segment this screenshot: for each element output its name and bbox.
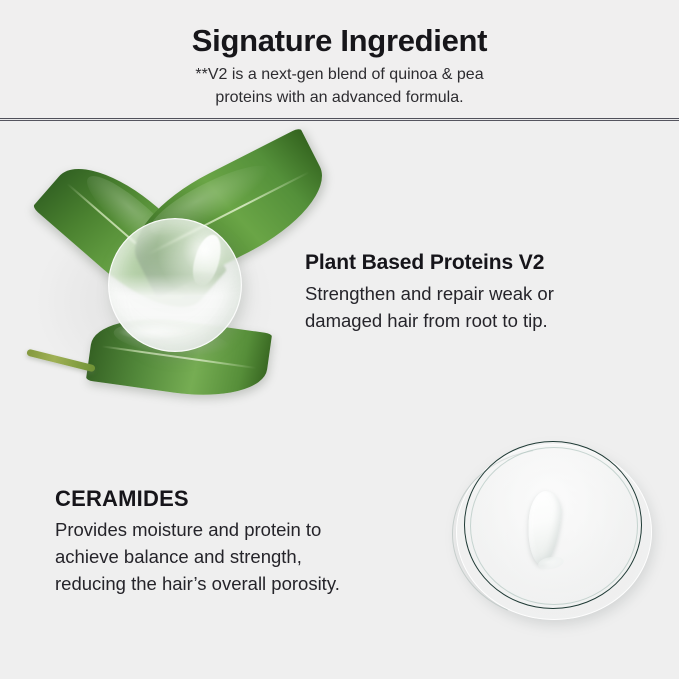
glass-petri-dish-with-cream-photo xyxy=(446,437,668,649)
droplet-highlight xyxy=(189,232,226,289)
ceramides-body: Provides moisture and protein to achieve… xyxy=(55,516,425,597)
header: Signature Ingredient **V2 is a next-gen … xyxy=(0,0,679,119)
plant-based-proteins-body: Strengthen and repair weak or damaged ha… xyxy=(305,280,645,334)
ceramides-section: CERAMIDES Provides moisture and protein … xyxy=(55,485,425,597)
plant-based-proteins-section: Plant Based Proteins V2 Strengthen and r… xyxy=(305,249,645,334)
page-title: Signature Ingredient xyxy=(0,21,679,61)
header-subtitle: **V2 is a next-gen blend of quinoa & pea… xyxy=(0,63,679,109)
green-leaves-with-water-droplet-photo xyxy=(18,159,303,419)
water-droplet-icon xyxy=(108,218,242,352)
body-line: Strengthen and repair weak or xyxy=(305,280,645,307)
body-line: Provides moisture and protein to xyxy=(55,516,425,543)
ceramides-heading: CERAMIDES xyxy=(55,485,425,513)
body-line: reducing the hair’s overall porosity. xyxy=(55,570,425,597)
header-subtitle-line-2: proteins with an advanced formula. xyxy=(0,86,679,109)
body-line: achieve balance and strength, xyxy=(55,543,425,570)
header-subtitle-line-1: **V2 is a next-gen blend of quinoa & pea xyxy=(0,63,679,86)
signature-ingredient-panel: Signature Ingredient **V2 is a next-gen … xyxy=(0,0,679,679)
plant-based-proteins-heading: Plant Based Proteins V2 xyxy=(305,249,645,277)
content-area: Plant Based Proteins V2 Strengthen and r… xyxy=(0,121,679,679)
body-line: damaged hair from root to tip. xyxy=(305,307,645,334)
droplet-edge-highlight xyxy=(119,324,189,340)
